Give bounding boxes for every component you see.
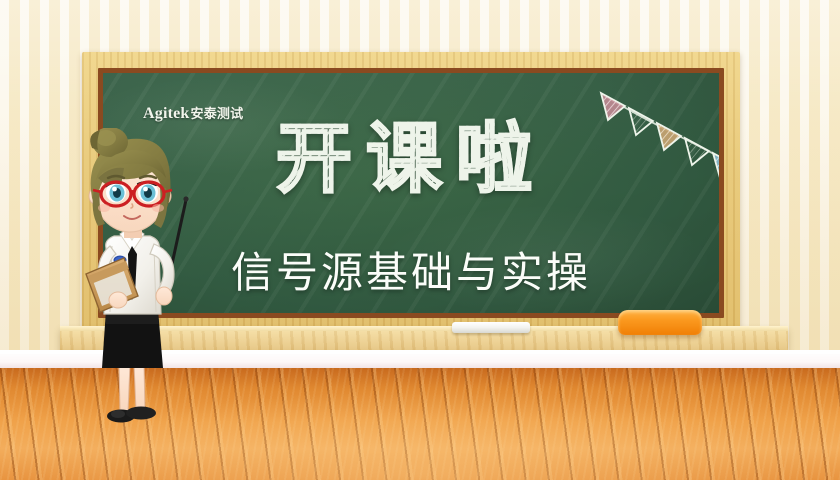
scene-stage: Agitek安泰测试 xyxy=(0,0,840,480)
board-eraser-icon[interactable] xyxy=(618,310,702,335)
brand-logo-cjk: 安泰测试 xyxy=(191,103,244,122)
pennant-1 xyxy=(601,93,625,120)
teacher-left-hand xyxy=(109,292,127,308)
teacher-shoes xyxy=(107,407,156,423)
chalk-stick-icon[interactable] xyxy=(452,322,530,333)
course-subtitle: 信号源基础与实操 xyxy=(231,239,591,300)
cartoon-teacher xyxy=(62,128,212,440)
course-title: 开课啦 xyxy=(276,121,546,197)
brand-logo: Agitek安泰测试 xyxy=(143,103,243,123)
teacher-skirt xyxy=(102,310,163,368)
teacher-head xyxy=(89,128,172,232)
teacher-legs xyxy=(119,364,145,412)
